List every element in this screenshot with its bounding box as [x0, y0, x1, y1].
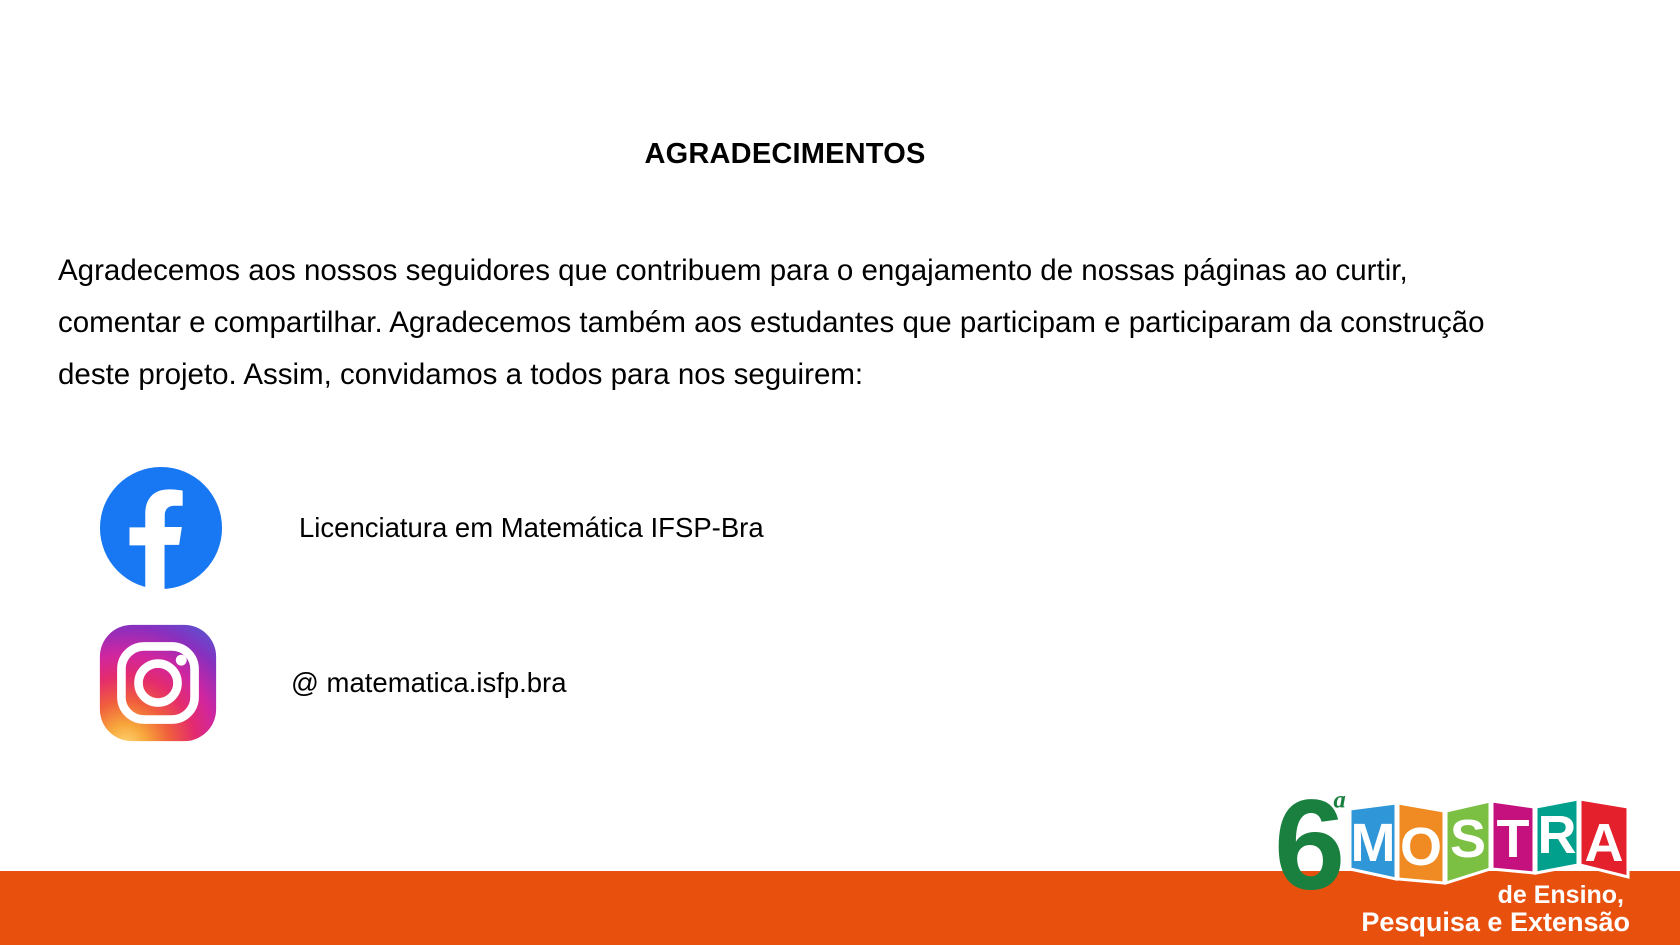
- paragraph-line-3: deste projeto. Assim, convidamos a todos…: [58, 349, 1513, 401]
- paragraph-line-1: Agradecemos aos nossos seguidores que co…: [58, 245, 1513, 297]
- instagram-icon[interactable]: [98, 623, 218, 743]
- logo-tagline: de Ensino, Pesquisa e Extensão: [1361, 881, 1630, 937]
- logo-letter-R: R: [1536, 799, 1578, 873]
- page-title: AGRADECIMENTOS: [0, 138, 1570, 171]
- logo-letter-S: S: [1446, 801, 1490, 883]
- logo-letter-A: A: [1580, 799, 1628, 877]
- instagram-handle: @ matematica.isfp.bra: [291, 667, 567, 699]
- svg-text:A: A: [1585, 813, 1624, 873]
- logo-letter-O: O: [1398, 803, 1444, 883]
- social-row-instagram[interactable]: @ matematica.isfp.bra: [98, 623, 567, 743]
- mostra-logo: 6 ª M O S: [1272, 751, 1672, 941]
- facebook-icon[interactable]: [98, 465, 224, 591]
- logo-letter-M: M: [1350, 803, 1396, 879]
- facebook-page-name: Licenciatura em Matemática IFSP-Bra: [299, 512, 764, 544]
- svg-text:M: M: [1351, 813, 1396, 873]
- svg-text:T: T: [1497, 809, 1530, 869]
- svg-text:Pesquisa e Extensão: Pesquisa e Extensão: [1361, 907, 1630, 937]
- acknowledgements-paragraph: Agradecemos aos nossos seguidores que co…: [58, 245, 1513, 401]
- social-row-facebook[interactable]: Licenciatura em Matemática IFSP-Bra: [98, 465, 764, 591]
- svg-text:R: R: [1538, 805, 1577, 865]
- svg-text:S: S: [1450, 809, 1486, 869]
- logo-letter-T: T: [1492, 801, 1534, 873]
- svg-text:de Ensino,: de Ensino,: [1498, 881, 1624, 909]
- logo-word-mostra: M O S T: [1350, 799, 1628, 883]
- slide-canvas: AGRADECIMENTOS Agradecemos aos nossos se…: [0, 0, 1680, 945]
- paragraph-line-2: comentar e compartilhar. Agradecemos tam…: [58, 297, 1513, 349]
- logo-numeral-6: 6 ª: [1274, 774, 1346, 917]
- svg-text:O: O: [1400, 817, 1442, 877]
